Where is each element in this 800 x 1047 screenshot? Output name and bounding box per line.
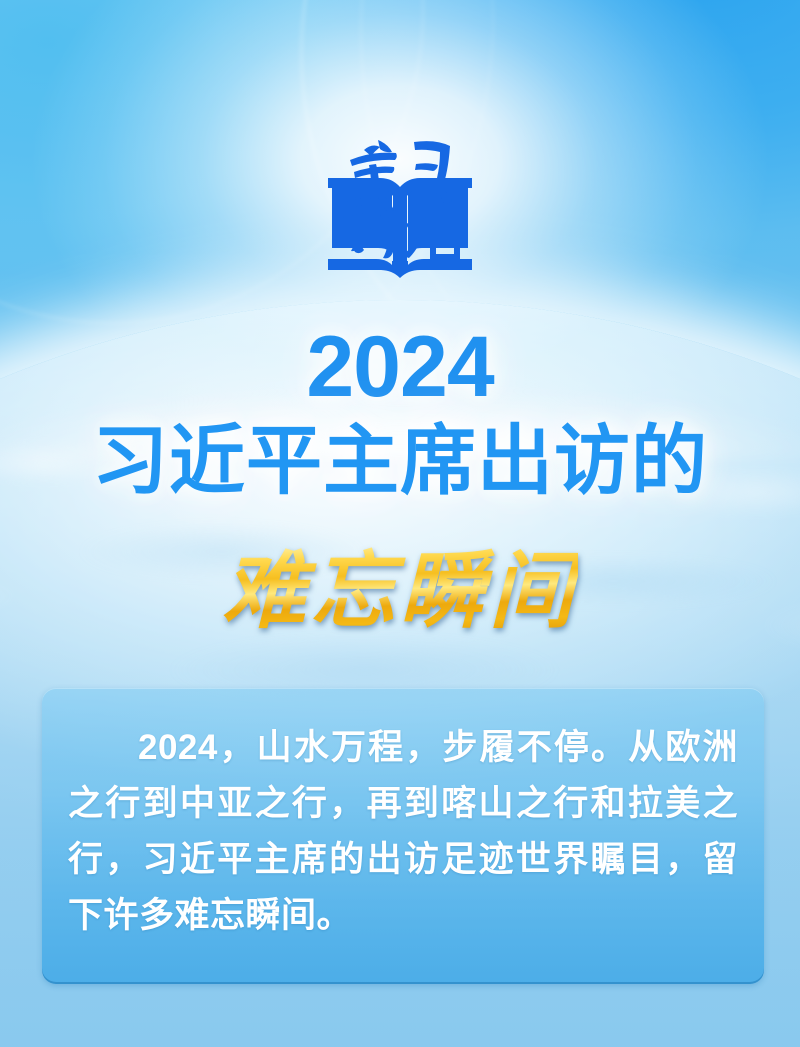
xi-xin-yu-book-logo-icon — [320, 134, 480, 284]
summary-panel: 2024，山水万程，步履不停。从欧洲之行到中亚之行，再到喀山之行和拉美之行，习近… — [42, 688, 764, 984]
headline-year: 2024 — [0, 324, 800, 410]
calligraphy-subtitle: 难忘瞬间 — [222, 545, 578, 637]
headline-block: 2024 习近平主席出访的 — [0, 324, 800, 502]
poster-canvas: 2024 习近平主席出访的 难忘瞬间 2024，山水万程，步履不停。从欧洲之行到… — [0, 0, 800, 1047]
summary-text: 2024，山水万程，步履不停。从欧洲之行到中亚之行，再到喀山之行和拉美之行，习近… — [68, 720, 738, 944]
calligraphy-block: 难忘瞬间 — [0, 545, 800, 637]
brand-logo[interactable] — [320, 134, 480, 284]
page-title: 习近平主席出访的 — [0, 422, 800, 502]
